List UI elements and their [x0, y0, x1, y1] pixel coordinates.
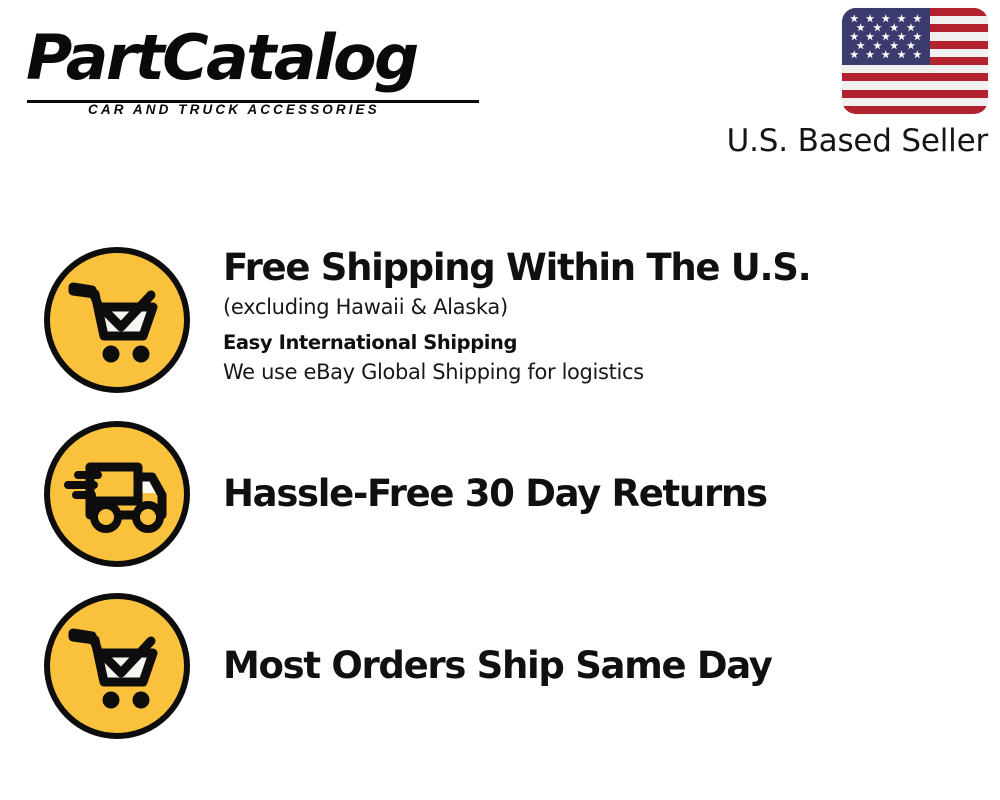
star-row	[846, 14, 925, 23]
feature-secondary-text: We use eBay Global Shipping for logistic…	[223, 357, 980, 387]
star-icon	[890, 23, 899, 32]
banner-header: PartCatalog CAR AND TRUCK ACCESSORIES	[0, 0, 1000, 175]
feature-row: Hassle-Free 30 Day Returns	[0, 408, 1000, 580]
flag-stripe	[842, 106, 988, 114]
shopping-cart-check-icon	[44, 593, 190, 739]
flag-stripe	[842, 81, 988, 89]
star-row	[846, 23, 925, 32]
feature-title: Free Shipping Within The U.S.	[223, 246, 980, 290]
brand-logo: PartCatalog CAR AND TRUCK ACCESSORIES	[26, 26, 496, 90]
star-icon	[913, 32, 922, 41]
feature-text-block: Free Shipping Within The U.S. (excluding…	[223, 246, 1000, 387]
star-icon	[850, 32, 859, 41]
star-icon	[873, 41, 882, 50]
feature-row: Free Shipping Within The U.S. (excluding…	[0, 232, 1000, 408]
flag-stripe	[842, 73, 988, 81]
star-icon	[881, 50, 890, 59]
star-icon	[913, 50, 922, 59]
feature-text-block: Most Orders Ship Same Day	[223, 644, 1000, 688]
star-icon	[866, 50, 875, 59]
promo-banner: PartCatalog CAR AND TRUCK ACCESSORIES	[0, 0, 1000, 800]
star-icon	[881, 32, 890, 41]
feature-row: Most Orders Ship Same Day	[0, 580, 1000, 752]
feature-subtitle: (excluding Hawaii & Alaska)	[223, 292, 980, 322]
us-based-seller-badge: U.S. Based Seller	[708, 8, 988, 159]
feature-text-block: Hassle-Free 30 Day Returns	[223, 472, 1000, 516]
feature-list: Free Shipping Within The U.S. (excluding…	[0, 232, 1000, 752]
star-icon	[856, 23, 865, 32]
flag-stripe	[842, 65, 988, 73]
flag-stripe	[842, 98, 988, 106]
star-icon	[850, 50, 859, 59]
feature-title: Most Orders Ship Same Day	[223, 644, 980, 688]
flag-stripe	[842, 90, 988, 98]
star-icon	[897, 50, 906, 59]
feature-icon-wrapper	[42, 247, 192, 393]
star-icon	[906, 41, 915, 50]
feature-icon-wrapper	[42, 421, 192, 567]
star-icon	[866, 32, 875, 41]
us-flag-icon	[842, 8, 988, 114]
star-icon	[873, 23, 882, 32]
star-icon	[897, 14, 906, 23]
star-icon	[897, 32, 906, 41]
feature-title: Hassle-Free 30 Day Returns	[223, 472, 980, 516]
brand-tagline: CAR AND TRUCK ACCESSORIES	[88, 102, 380, 117]
feature-secondary-title: Easy International Shipping	[223, 329, 980, 357]
star-icon	[856, 41, 865, 50]
star-icon	[913, 14, 922, 23]
shopping-cart-check-icon	[44, 247, 190, 393]
feature-icon-wrapper	[42, 593, 192, 739]
star-row	[846, 50, 925, 59]
flag-stars	[842, 8, 930, 65]
star-icon	[850, 14, 859, 23]
star-icon	[906, 23, 915, 32]
delivery-truck-icon	[44, 421, 190, 567]
star-icon	[866, 14, 875, 23]
star-row	[846, 41, 925, 50]
brand-wordmark: PartCatalog	[26, 26, 505, 90]
us-based-seller-label: U.S. Based Seller	[708, 123, 988, 159]
flag-canton	[842, 8, 930, 65]
star-row	[846, 32, 925, 41]
star-icon	[890, 41, 899, 50]
star-icon	[881, 14, 890, 23]
